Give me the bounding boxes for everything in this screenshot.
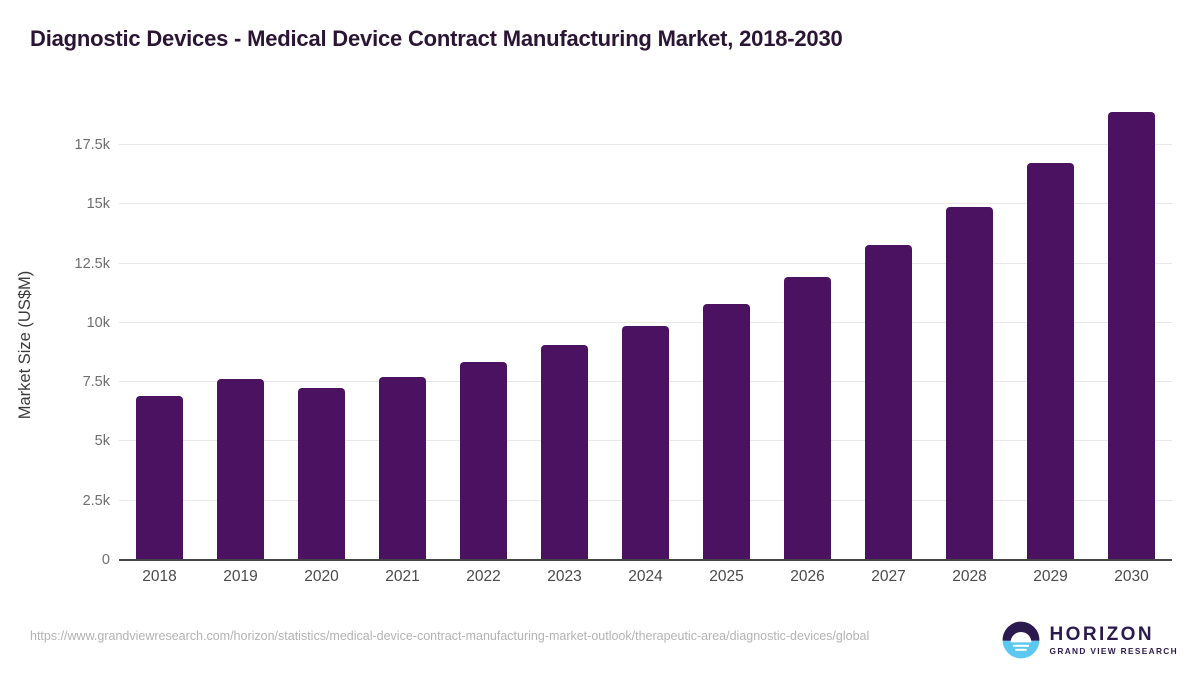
x-tick-label: 2021 <box>363 568 443 586</box>
x-tick-label: 2018 <box>120 568 200 586</box>
bar[interactable] <box>298 388 345 560</box>
x-tick-label: 2028 <box>930 568 1010 586</box>
bar[interactable] <box>784 277 831 560</box>
chart-title: Diagnostic Devices - Medical Device Cont… <box>30 26 843 52</box>
horizon-sunset-circle-icon <box>1001 620 1041 660</box>
logo-subtitle: GRAND VIEW RESEARCH <box>1050 647 1178 655</box>
x-tick-label: 2024 <box>606 568 686 586</box>
bar[interactable] <box>1108 112 1155 560</box>
bar[interactable] <box>703 304 750 560</box>
source-url[interactable]: https://www.grandviewresearch.com/horizo… <box>30 628 930 645</box>
bar[interactable] <box>460 362 507 560</box>
y-tick-label: 17.5k <box>2 137 110 153</box>
y-tick-label: 5k <box>2 433 110 449</box>
horizon-logo: HORIZON GRAND VIEW RESEARCH <box>1001 620 1178 660</box>
x-tick-label: 2019 <box>201 568 281 586</box>
x-tick-label: 2026 <box>768 568 848 586</box>
x-tick-label: 2029 <box>1011 568 1091 586</box>
logo-name: HORIZON <box>1050 625 1178 644</box>
bar[interactable] <box>217 379 264 560</box>
gridline <box>119 144 1172 145</box>
gridline <box>119 263 1172 264</box>
chart-card: Diagnostic Devices - Medical Device Cont… <box>0 0 1200 675</box>
y-tick-label: 12.5k <box>2 256 110 272</box>
x-tick-label: 2025 <box>687 568 767 586</box>
bar[interactable] <box>136 396 183 560</box>
x-tick-label: 2027 <box>849 568 929 586</box>
bar[interactable] <box>622 326 669 560</box>
gridline <box>119 203 1172 204</box>
y-tick-label: 10k <box>2 315 110 331</box>
logo-text: HORIZON GRAND VIEW RESEARCH <box>1050 625 1178 655</box>
gridline <box>119 322 1172 323</box>
bar[interactable] <box>541 345 588 560</box>
x-tick-label: 2022 <box>444 568 524 586</box>
y-tick-label: 15k <box>2 196 110 212</box>
y-tick-label: 0 <box>2 552 110 568</box>
bar[interactable] <box>946 207 993 560</box>
plot-area <box>119 100 1172 560</box>
x-tick-label: 2020 <box>282 568 362 586</box>
bar[interactable] <box>865 245 912 560</box>
y-tick-label: 7.5k <box>2 374 110 390</box>
y-axis-tick-labels: 02.5k5k7.5k10k12.5k15k17.5k <box>0 0 110 675</box>
x-tick-label: 2030 <box>1092 568 1172 586</box>
bar[interactable] <box>1027 163 1074 560</box>
y-tick-label: 2.5k <box>2 493 110 509</box>
x-axis-tick-labels: 2018201920202021202220232024202520262027… <box>119 568 1172 596</box>
x-tick-label: 2023 <box>525 568 605 586</box>
bar[interactable] <box>379 377 426 560</box>
x-axis-line <box>119 559 1172 561</box>
